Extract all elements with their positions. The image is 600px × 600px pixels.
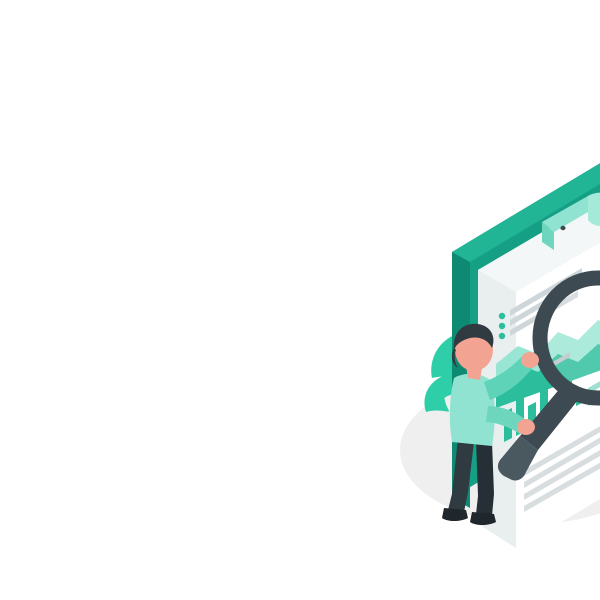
hero-banner: ysis] 4 of Tax port with ns (0, 0, 600, 600)
subtitle-line-2: port with (0, 333, 162, 372)
page-title: ysis] (0, 246, 162, 292)
hero-text-block: ysis] 4 of Tax port with ns (0, 246, 162, 411)
subtitle-line-3: ns (0, 372, 162, 411)
subtitle: 4 of Tax port with ns (0, 292, 162, 411)
isometric-illustration (392, 150, 600, 550)
bullet-dots (499, 313, 505, 339)
subtitle-line-1: 4 of Tax (0, 294, 162, 333)
